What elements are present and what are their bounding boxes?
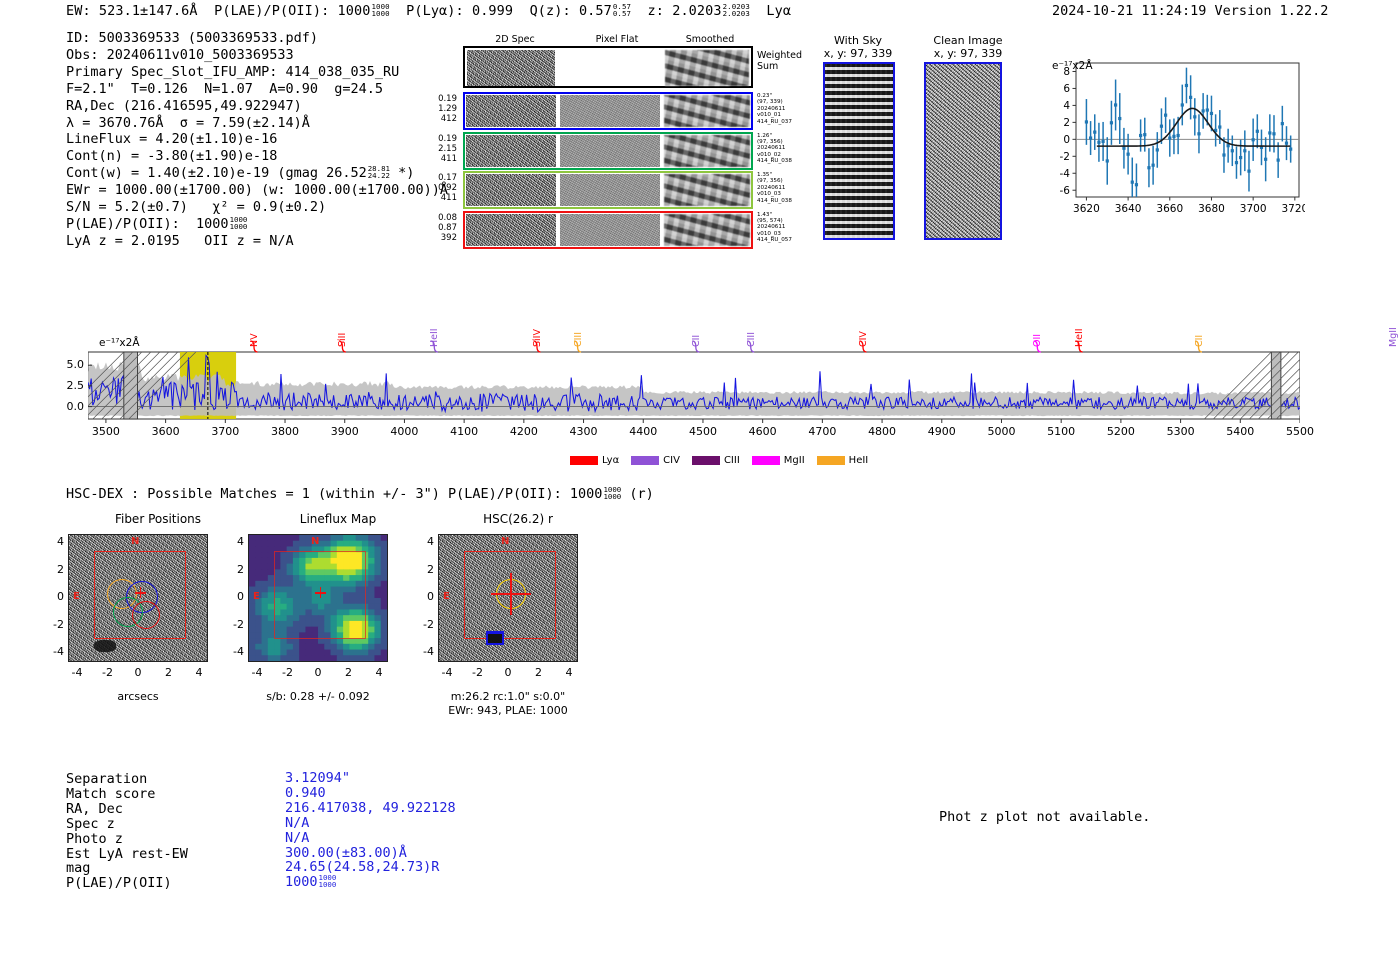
detection-info-block: ID: 5003369533 (5003369533.pdf) Obs: 202…: [66, 30, 448, 250]
fiber-positions-ytick: 2: [42, 563, 64, 576]
fiber-positions-ytick: -4: [42, 645, 64, 658]
fiber-row-stats: 0.080.87392: [421, 213, 457, 244]
line-marker-label: CIII: [746, 315, 757, 347]
full-spectrum-legend: LyαCIVCIIIMgIIHeII: [570, 450, 880, 469]
fiber-row-meta-line: 414_RU_037: [757, 119, 817, 125]
fiber-row-stat: 412: [421, 114, 457, 124]
xtick-label: 5100: [1043, 425, 1079, 438]
fiber-row-meta-line: 414_RU_057: [757, 237, 817, 243]
fiber-row-meta: 1.35"(97, 356)20240611v010_03414_RU_038: [757, 172, 817, 204]
lineflux-map-ytick: -2: [222, 618, 244, 631]
fiber-positions-xtick: -4: [64, 666, 90, 679]
panel-title-fiber-positions: Fiber Positions: [68, 512, 248, 526]
fiber-row-stat: 0.19: [421, 134, 457, 144]
fiber-positions-xtick: 2: [156, 666, 182, 679]
svg-text:-6: -6: [1060, 185, 1071, 197]
lineflux-map-xtick: 2: [336, 666, 362, 679]
fiber-row-stat: 0.17: [421, 173, 457, 183]
fiber-row-pixelflat: [560, 135, 660, 167]
col-title-pixelflat: Pixel Flat: [572, 34, 662, 45]
hsc-r-xtick: -2: [465, 666, 491, 679]
header-qz: Q(z): 0.57: [530, 3, 612, 19]
fiber-positions-xlabel: arcsecs: [68, 690, 208, 703]
svg-text:-2: -2: [1060, 151, 1070, 163]
fiber-row-stat: 0.92: [421, 183, 457, 193]
match-table-value: 216.417038, 49.922128: [285, 801, 456, 816]
info-seeing: F=2.1" T=0.126 N=1.07 A=0.90 g=24.5: [66, 81, 448, 98]
compass-n-hsc: N: [501, 536, 509, 547]
info-cont-n: Cont(n) = -3.80(±1.90)e-18: [66, 148, 448, 165]
lineflux-map-ytick: 0: [222, 590, 244, 603]
clean-image-title: Clean Image: [908, 34, 1028, 47]
hscdex-summary-text: HSC-DEX : Possible Matches = 1 (within +…: [66, 486, 602, 502]
fiber-positions-ytick: 0: [42, 590, 64, 603]
line-fit-plot: 362036403660368037003720-6-4-202468: [1040, 57, 1305, 223]
svg-text:6: 6: [1063, 83, 1070, 95]
svg-text:2: 2: [1063, 117, 1070, 129]
legend-label: MgII: [784, 455, 805, 466]
weighted-sum-smoothed-image: [665, 50, 749, 86]
xtick-label: 4700: [804, 425, 840, 438]
match-table-key: Separation: [66, 772, 147, 787]
xtick-label: 4200: [506, 425, 542, 438]
line-marker-label: SiIV: [532, 315, 543, 347]
fiber-row-2dspec: [466, 95, 556, 127]
header-plae-bounds: 10001000: [371, 3, 389, 17]
info-id: ID: 5003369533 (5003369533.pdf): [66, 30, 448, 47]
header-plya: P(Lyα): 0.999: [406, 3, 513, 19]
fiber-positions-ytick: -2: [42, 618, 64, 631]
header-line-id: Lyα: [766, 3, 791, 19]
ytick-label: 2.5: [54, 379, 84, 392]
fiber-row-stats: 0.192.15411: [421, 134, 457, 165]
fiber-row-pixelflat: [560, 214, 660, 246]
match-table-key: P(LAE)/P(OII): [66, 876, 172, 891]
lineflux-map-xlabel: s/b: 0.28 +/- 0.092: [238, 690, 398, 703]
fiber-row: [463, 211, 753, 249]
with-sky-title: With Sky: [808, 34, 908, 47]
info-sn-chi2: S/N = 5.2(±0.7) χ² = 0.9(±0.2): [66, 199, 448, 216]
fiber-row-smoothed: [664, 214, 750, 246]
xtick-label: 4300: [566, 425, 602, 438]
col-title-2dspec: 2D Spec: [470, 34, 560, 45]
hsc-r-cross-v: [510, 573, 512, 615]
compass-e-fiber: E: [73, 591, 80, 602]
legend-label: Lyα: [602, 455, 619, 466]
header-ew: EW: 523.1±147.6Å: [66, 3, 198, 19]
hsc-r-caption: EWr: 943, PLAE: 1000: [428, 704, 588, 717]
lineflux-cross-v: [320, 587, 322, 598]
legend-label: CIII: [724, 455, 740, 466]
xtick-label: 3500: [88, 425, 124, 438]
fiber-row: [463, 132, 753, 170]
xtick-label: 4400: [625, 425, 661, 438]
hsc-r-xlabel: m:26.2 rc:1.0" s:0.0": [428, 690, 588, 703]
match-table-value: 3.12094": [285, 771, 350, 786]
fiber-row-stats: 0.191.29412: [421, 94, 457, 125]
hsc-r-ytick: -2: [412, 618, 434, 631]
compass-e-lineflux: E: [253, 591, 260, 602]
line-marker-label: CIV: [858, 315, 869, 347]
hscdex-summary-filter: (r): [629, 486, 653, 502]
xtick-label: 4900: [924, 425, 960, 438]
header-qz-bounds: 0.570.57: [613, 3, 631, 17]
legend-label: HeII: [849, 455, 869, 466]
xtick-label: 4500: [685, 425, 721, 438]
line-marker-label: CII: [1194, 315, 1205, 347]
compass-n-lineflux: N: [311, 536, 319, 547]
fiber-row-meta-line: 414_RU_038: [757, 158, 817, 164]
clean-image-coords: x, y: 97, 339: [908, 47, 1028, 60]
clean-image-image: [924, 62, 1002, 240]
legend-item: CIII: [692, 455, 740, 466]
match-table-plae-bounds: 10001000: [319, 874, 337, 888]
match-table-value: 24.65(24.58,24.73)R: [285, 860, 439, 875]
hsc-r-match-core: [488, 634, 502, 643]
legend-item: Lyα: [570, 455, 619, 466]
fiber-circle-red: [132, 601, 160, 629]
line-marker-label: CII: [691, 315, 702, 347]
header-plae-value: 1000: [338, 3, 371, 19]
match-table-value: 300.00(±83.00)Å: [285, 846, 407, 861]
line-fit-units-annotation: e⁻¹⁷x2Å: [1052, 60, 1093, 72]
fiber-row-2dspec: [466, 214, 556, 246]
lineflux-map-xtick: 0: [305, 666, 331, 679]
lineflux-map-xtick: 4: [366, 666, 392, 679]
line-marker-label: HeII: [1074, 315, 1085, 347]
legend-label: CIV: [663, 455, 680, 466]
match-table-key: Match score: [66, 787, 155, 802]
fiber-row-pixelflat: [560, 95, 660, 127]
xtick-label: 5500: [1282, 425, 1318, 438]
header-summary-line: EW: 523.1±147.6Å P(LAE)/P(OII): 10001000…: [66, 3, 791, 19]
fiber-row-stat: 2.15: [421, 144, 457, 154]
match-table-value: N/A: [285, 816, 309, 831]
hscdex-plae-bounds: 10001000: [603, 486, 621, 500]
fiber-row-smoothed: [664, 95, 750, 127]
xtick-label: 3600: [148, 425, 184, 438]
match-table: Separation3.12094"Match score0.940RA, De…: [66, 772, 486, 902]
match-table-value: 100010001000: [285, 875, 336, 890]
panel-title-lineflux-map: Lineflux Map: [248, 512, 428, 526]
hsc-r-match-marker: [486, 631, 504, 645]
hsc-r-ytick: 0: [412, 590, 434, 603]
legend-item: CIV: [631, 455, 680, 466]
svg-text:3640: 3640: [1115, 203, 1142, 215]
fiber-row-meta: 0.23"(97, 339)20240611v010_01414_RU_037: [757, 93, 817, 125]
match-table-key: RA, Dec: [66, 802, 123, 817]
fiber-row-stat: 411: [421, 154, 457, 164]
line-marker-label: MgII: [1388, 315, 1399, 347]
info-redshifts: LyA z = 2.0195 OII z = N/A: [66, 233, 448, 250]
hsc-r-ytick: 2: [412, 563, 434, 576]
target-cross-v: [140, 587, 142, 598]
info-radec: RA,Dec (216.416595,49.922947): [66, 98, 448, 115]
info-plae-value: P(LAE)/P(OII): 1000: [66, 216, 229, 232]
svg-text:3720: 3720: [1281, 203, 1305, 215]
legend-swatch: [752, 456, 780, 465]
fiber-positions-ytick: 4: [42, 535, 64, 548]
fiber-positions-xtick: -2: [95, 666, 121, 679]
lineflux-map-ytick: 4: [222, 535, 244, 548]
fiber-row-stat: 411: [421, 193, 457, 203]
lineflux-map-xtick: -2: [275, 666, 301, 679]
match-table-value: N/A: [285, 831, 309, 846]
with-sky-coords: x, y: 97, 339: [808, 47, 908, 60]
weighted-sum-pixelflat-image: [561, 50, 661, 86]
xtick-label: 3800: [267, 425, 303, 438]
info-slot: Primary Spec_Slot_IFU_AMP: 414_038_035_R…: [66, 64, 448, 81]
fiber-row-2dspec: [466, 174, 556, 206]
svg-text:3660: 3660: [1156, 203, 1183, 215]
svg-text:3680: 3680: [1198, 203, 1225, 215]
line-marker-label: SiII: [337, 315, 348, 347]
fiber-row-stat: 0.19: [421, 94, 457, 104]
fiber-row-meta: 1.43"(95, 574)20240611v010_03414_RU_057: [757, 212, 817, 244]
fiber-positions-xtick: 4: [186, 666, 212, 679]
fiber-row-pixelflat: [560, 174, 660, 206]
compass-e-hsc: E: [443, 591, 450, 602]
hsc-r-ytick: -4: [412, 645, 434, 658]
hscdex-summary: HSC-DEX : Possible Matches = 1 (within +…: [66, 486, 654, 502]
legend-swatch: [692, 456, 720, 465]
line-marker-label: CIII: [573, 315, 584, 347]
with-sky-image: [823, 62, 895, 240]
timestamp-version: 2024-10-21 11:24:19 Version 1.22.2: [1052, 3, 1328, 19]
photz-note: Phot z plot not available.: [939, 809, 1150, 825]
lineflux-map-image[interactable]: N E: [248, 534, 388, 662]
panel-title-hsc-r: HSC(26.2) r: [428, 512, 608, 526]
weighted-sum-2dspec-image: [467, 50, 555, 86]
fiber-row-smoothed: [664, 135, 750, 167]
fiber-rows-container: 0.191.294120.23"(97, 339)20240611v010_01…: [463, 92, 803, 250]
fiber-row-2dspec: [466, 135, 556, 167]
xtick-label: 4800: [864, 425, 900, 438]
header-z-bounds: 2.02032.0203: [723, 3, 750, 17]
compass-n-fiber: N: [131, 536, 139, 547]
col-title-smoothed: Smoothed: [665, 34, 755, 45]
fiber-row: [463, 92, 753, 130]
line-marker-label: HeII: [429, 315, 440, 347]
ytick-label: 0.0: [54, 400, 84, 413]
svg-text:3700: 3700: [1240, 203, 1267, 215]
weighted-sum-label: Weighted Sum: [757, 50, 802, 72]
info-cont-w-pre: Cont(w) = 1.40(±2.10)e-19 (gmag 26.52: [66, 165, 367, 181]
fiber-row-stats: 0.170.92411: [421, 173, 457, 204]
info-cont-w-post: *): [398, 165, 414, 181]
xtick-label: 5300: [1163, 425, 1199, 438]
svg-text:3620: 3620: [1073, 203, 1100, 215]
legend-item: HeII: [817, 455, 869, 466]
fiber-row-stat: 0.08: [421, 213, 457, 223]
match-table-key: Photo z: [66, 832, 123, 847]
info-cont-w: Cont(w) = 1.40(±2.10)e-19 (gmag 26.5228.…: [66, 165, 448, 182]
line-marker-label: NV: [249, 315, 260, 347]
line-fit-svg: 362036403660368037003720-6-4-202468: [1040, 57, 1305, 223]
fiber-row: [463, 171, 753, 209]
xtick-label: 5400: [1222, 425, 1258, 438]
hsc-r-ytick: 4: [412, 535, 434, 548]
header-plae-label: P(LAE)/P(OII):: [214, 3, 329, 19]
info-lambda: λ = 3670.76Å σ = 7.59(±2.14)Å: [66, 115, 448, 132]
lineflux-map-xtick: -4: [244, 666, 270, 679]
fiber-row-meta-line: 414_RU_038: [757, 198, 817, 204]
clean-image-header: Clean Image x, y: 97, 339: [908, 34, 1028, 60]
lineflux-map-ytick: -4: [222, 645, 244, 658]
fiber-row-meta: 1.26"(97, 356)20240611v010_02414_RU_038: [757, 133, 817, 165]
hsc-r-xtick: -4: [434, 666, 460, 679]
info-ewr: EWr = 1000.00(±1700.00) (w: 1000.00(±170…: [66, 182, 448, 199]
fiber-row-stat: 1.29: [421, 104, 457, 114]
lineflux-map-ytick: 2: [222, 563, 244, 576]
fiber-positions-xtick: 0: [125, 666, 151, 679]
line-marker-label: OII: [1032, 315, 1043, 347]
svg-text:4: 4: [1063, 100, 1070, 112]
xtick-label: 3700: [207, 425, 243, 438]
info-plae: P(LAE)/P(OII): 100010001000: [66, 216, 448, 233]
with-sky-header: With Sky x, y: 97, 339: [808, 34, 908, 60]
hsc-r-image[interactable]: N E: [438, 534, 578, 662]
legend-swatch: [817, 456, 845, 465]
full-spectrum-units-annotation: e⁻¹⁷x2Å: [99, 337, 140, 349]
svg-text:0: 0: [1063, 134, 1070, 146]
legend-swatch: [631, 456, 659, 465]
fiber-row-stat: 392: [421, 233, 457, 243]
ytick-label: 5.0: [54, 358, 84, 371]
legend-item: MgII: [752, 455, 805, 466]
match-table-value: 0.940: [285, 786, 326, 801]
xtick-label: 4000: [386, 425, 422, 438]
match-table-key: mag: [66, 861, 90, 876]
fiber-row-stat: 0.87: [421, 223, 457, 233]
xtick-label: 4100: [446, 425, 482, 438]
xtick-label: 5000: [983, 425, 1019, 438]
xtick-label: 4600: [745, 425, 781, 438]
legend-swatch: [570, 456, 598, 465]
fiber-positions-image[interactable]: N E: [68, 534, 208, 662]
weighted-sum-row: [463, 46, 753, 88]
match-table-key: Spec z: [66, 817, 115, 832]
fiber-positions-source-blob: [94, 640, 116, 652]
hsc-r-xtick: 4: [556, 666, 582, 679]
xtick-label: 3900: [327, 425, 363, 438]
xtick-label: 5200: [1103, 425, 1139, 438]
info-lineflux: LineFlux = 4.20(±1.10)e-16: [66, 131, 448, 148]
match-table-key: Est LyA rest-EW: [66, 847, 188, 862]
info-plae-bounds: 10001000: [230, 216, 248, 230]
info-gmag-bounds: 28.8124.22: [368, 165, 390, 179]
header-z: z: 2.0203: [648, 3, 722, 19]
hsc-r-xtick: 2: [526, 666, 552, 679]
info-obs: Obs: 20240611v010_5003369533: [66, 47, 448, 64]
svg-text:-4: -4: [1060, 168, 1071, 180]
hsc-r-xtick: 0: [495, 666, 521, 679]
fiber-row-smoothed: [664, 174, 750, 206]
